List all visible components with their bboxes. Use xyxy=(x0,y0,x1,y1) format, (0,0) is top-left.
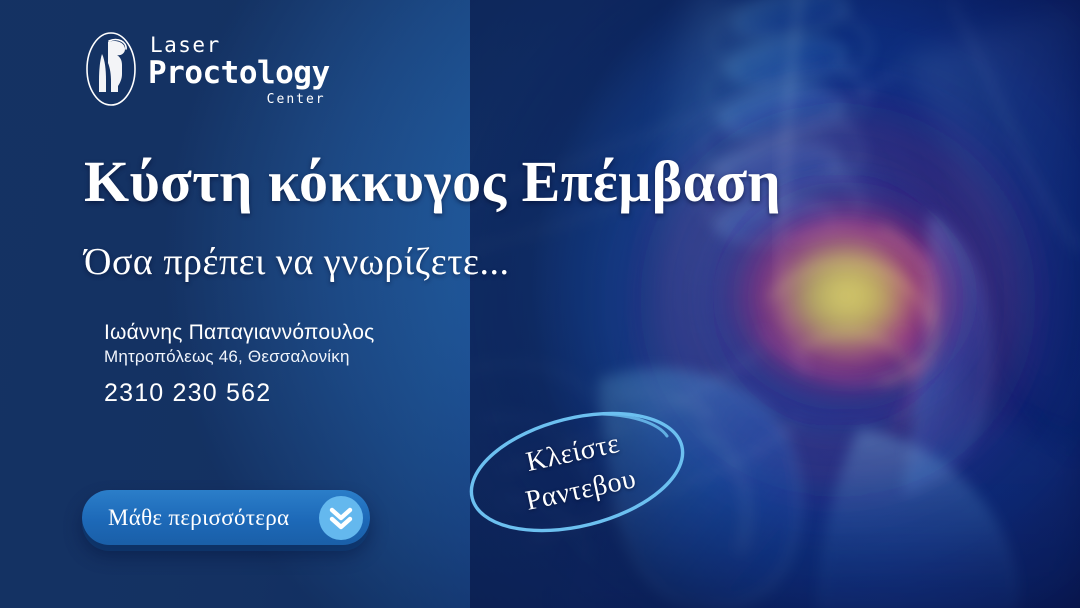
brand-logo[interactable]: Laser Proctology Center xyxy=(84,30,330,108)
brand-wordmark: Laser Proctology Center xyxy=(148,32,330,106)
clinic-address: Μητροπόλεως 46, Θεσσαλονίκη xyxy=(104,346,374,369)
learn-more-label: Μάθε περισσότερα xyxy=(108,505,289,531)
contact-block: Ιωάννης Παπαγιαννόπουλος Μητροπόλεως 46,… xyxy=(104,320,374,413)
brand-line-center: Center xyxy=(148,93,330,106)
laser-proctology-oval-mark-icon xyxy=(84,30,138,108)
book-appointment-stamp[interactable]: Κλείστε Ραντεβου xyxy=(462,406,692,538)
learn-more-button[interactable]: Μάθε περισσότερα xyxy=(82,490,370,545)
brand-line-proctology: Proctology xyxy=(148,58,330,89)
phone-number[interactable]: 2310 230 562 xyxy=(104,375,374,413)
brand-line-laser: Laser xyxy=(150,35,330,56)
promo-banner: Laser Proctology Center Κύστη κόκκυγος Ε… xyxy=(0,0,1080,608)
doctor-name: Ιωάννης Παπαγιαννόπουλος xyxy=(104,320,374,346)
page-subtitle: Όσα πρέπει να γνωρίζετε... xyxy=(84,240,784,284)
double-chevron-down-icon[interactable] xyxy=(319,496,363,540)
page-title: Κύστη κόκκυγος Επέμβαση xyxy=(84,148,884,215)
